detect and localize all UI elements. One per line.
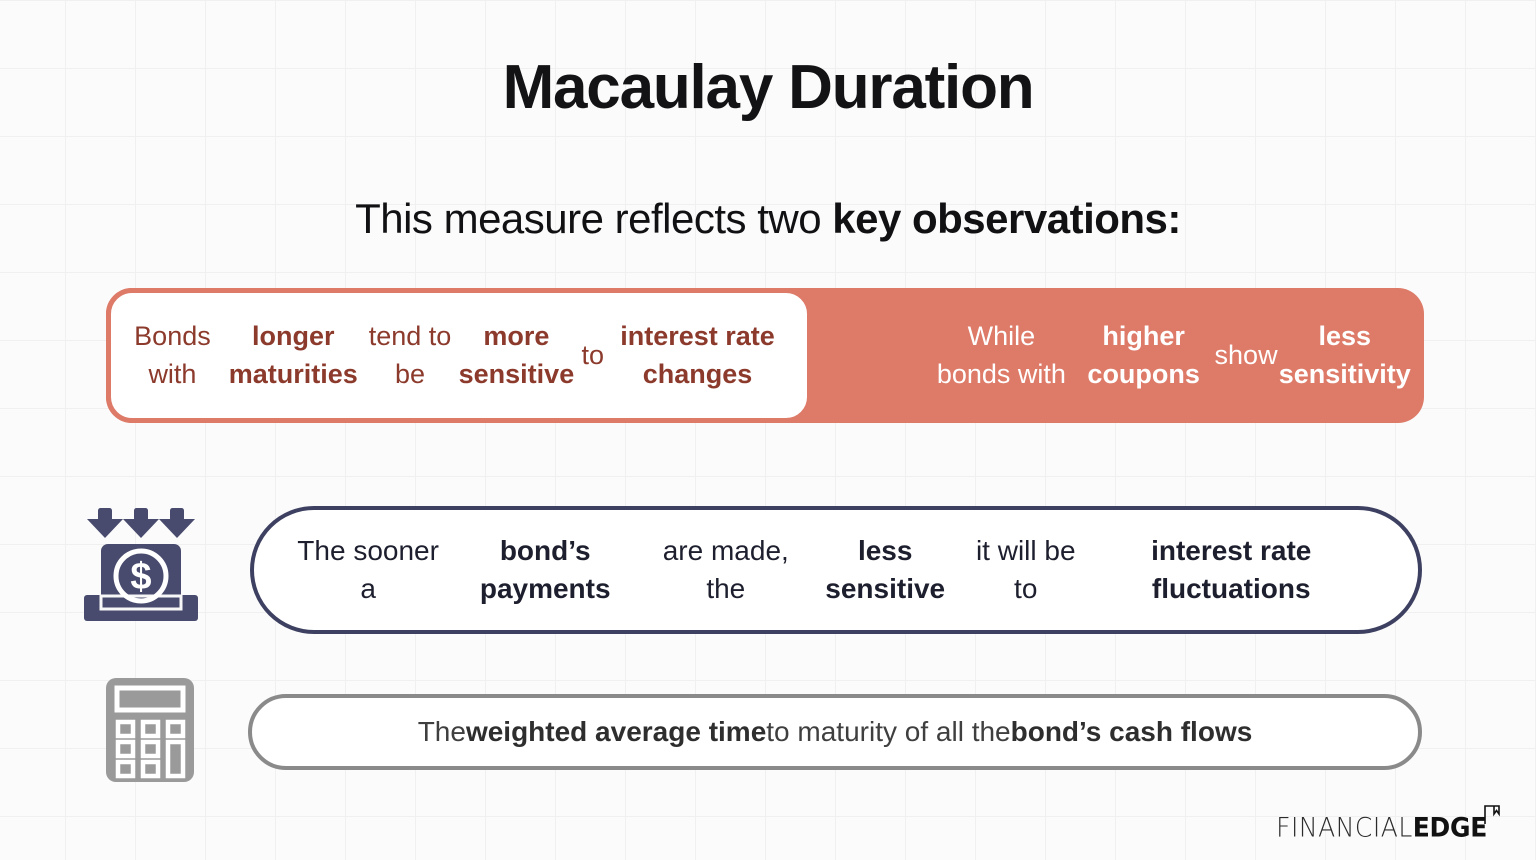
page-title: Macaulay Duration	[0, 54, 1536, 122]
page-subtitle: This measure reflects two key observatio…	[0, 194, 1536, 244]
observations-band: While bonds with higher coupons show les…	[106, 288, 1424, 423]
subtitle-bold-text: key observations:	[832, 195, 1181, 242]
svg-text:$: $	[130, 556, 151, 598]
logo-bold-text: EDGE	[1413, 812, 1487, 842]
point-gray-pill: The weighted average time to maturity of…	[248, 694, 1422, 770]
calculator-icon	[106, 678, 194, 782]
point-navy-pill: The sooner a bond’s payments are made, t…	[250, 506, 1422, 634]
money-drop-icon: $	[84, 506, 212, 630]
observation-right-coral: While bonds with higher coupons show les…	[918, 288, 1424, 423]
subtitle-normal-text: This measure reflects two	[355, 195, 832, 242]
financial-edge-logo: FINANCIAL EDGE	[1276, 808, 1500, 842]
logo-thin-text: FINANCIAL	[1276, 812, 1413, 842]
observation-left-card: Bonds with longer maturities tend to be …	[106, 288, 812, 423]
